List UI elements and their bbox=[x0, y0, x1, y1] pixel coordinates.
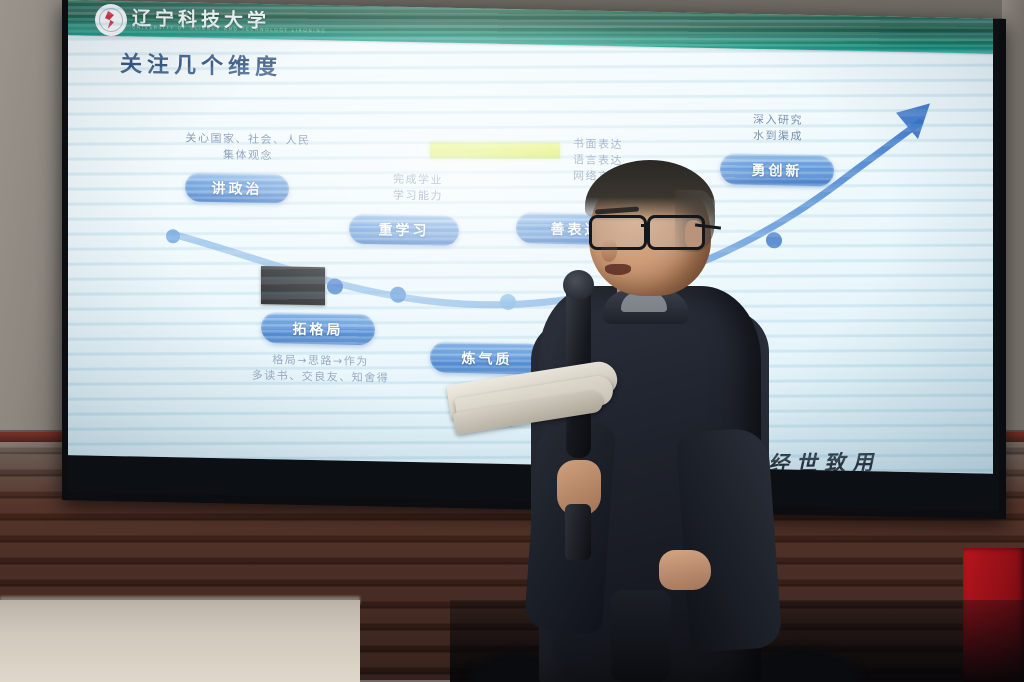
stage-floor bbox=[0, 600, 360, 682]
node-1-caption-line-1: 关心国家、社会、人民 bbox=[168, 130, 328, 149]
lens-right bbox=[647, 215, 705, 250]
node-2-caption: 完成学业 学习能力 bbox=[353, 171, 483, 205]
glasses-bridge bbox=[641, 224, 649, 227]
node-4-caption: 深入研究 水到渠成 bbox=[718, 111, 838, 145]
node-5-caption-line-2: 多读书、交良友、知舍得 bbox=[248, 368, 393, 387]
microphone-head-icon bbox=[563, 270, 594, 300]
lens-left bbox=[589, 215, 647, 250]
node-1-pill-label: 讲政治 bbox=[212, 178, 263, 199]
presenter bbox=[525, 160, 775, 682]
node-5-pill-label: 拓格局 bbox=[293, 318, 344, 339]
hand-holding-papers bbox=[659, 550, 711, 590]
node-2-caption-line-2: 学习能力 bbox=[353, 187, 483, 206]
node-2-pill[interactable]: 重学习 bbox=[349, 214, 459, 246]
node-1-pill[interactable]: 讲政治 bbox=[185, 172, 289, 203]
mouth bbox=[605, 264, 631, 275]
arm-left bbox=[675, 427, 782, 653]
node-5-pill[interactable]: 拓格局 bbox=[261, 312, 375, 345]
calligraphy-mark: 经世致用 bbox=[768, 446, 881, 473]
black-block bbox=[261, 266, 325, 305]
belt-shadow bbox=[611, 590, 671, 682]
wall-left bbox=[0, 0, 66, 455]
node-6-pill-label: 炼气质 bbox=[462, 348, 513, 369]
node-1-caption-line-2: 集体观念 bbox=[168, 146, 328, 165]
node-4-caption-line-2: 水到渠成 bbox=[718, 127, 838, 145]
node-1-caption: 关心国家、社会、人民 集体观念 bbox=[168, 130, 328, 165]
slide-title: 关注几个维度 bbox=[120, 46, 282, 81]
microphone-handle bbox=[565, 504, 591, 560]
screenshot-root: 辽宁科技大学 UNIVERSITY OF SCIENCE AND TECHNOL… bbox=[0, 0, 1024, 682]
node-2-pill-label: 重学习 bbox=[379, 219, 430, 240]
node-5-caption: 格局→思路→作为 多读书、交良友、知舍得 bbox=[248, 352, 393, 387]
nose bbox=[601, 240, 617, 262]
